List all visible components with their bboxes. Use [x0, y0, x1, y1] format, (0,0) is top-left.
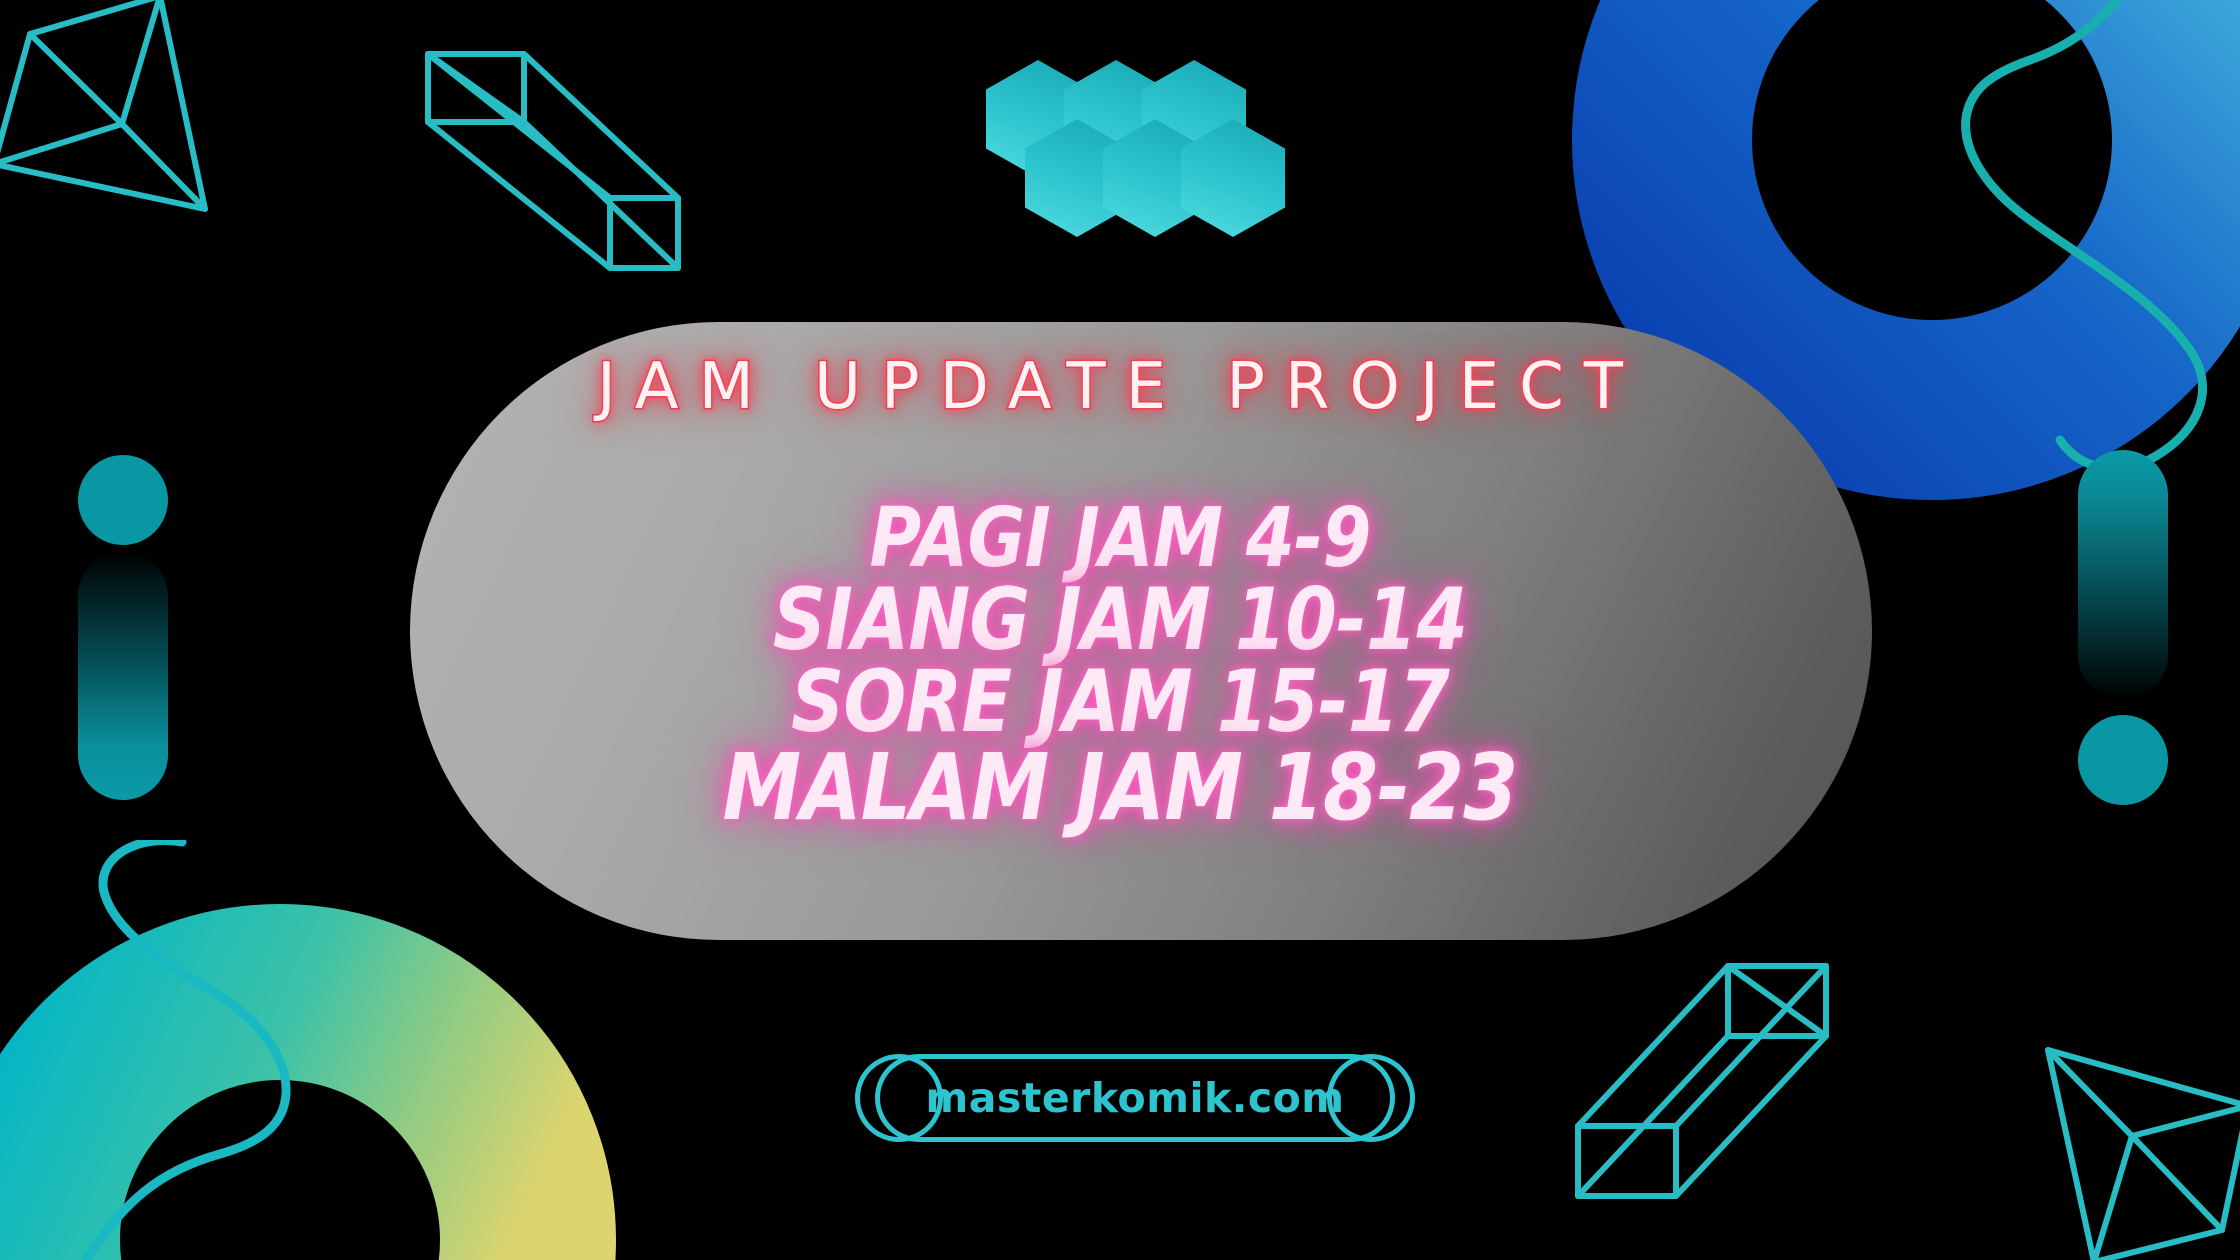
hexagon-6 — [1181, 119, 1285, 237]
tetrahedron-top-left-icon — [0, 0, 230, 224]
hexagon-4 — [1025, 119, 1129, 237]
green-ring-bottom-left — [0, 870, 720, 1260]
beam-bottom-right-icon — [1572, 960, 1842, 1200]
squiggle-bottom-left-icon — [70, 840, 490, 1260]
schedule-list: PAGI JAM 4-9 SIANG JAM 10-14 SORE JAM 15… — [0, 500, 2240, 832]
page-title: JAM UPDATE PROJECT — [0, 350, 2240, 424]
tetrahedron-bottom-right-icon — [2010, 1040, 2240, 1260]
schedule-item-pagi: PAGI JAM 4-9 — [157, 500, 2083, 579]
hexagon-1 — [986, 60, 1090, 178]
hexagon-5 — [1103, 119, 1207, 237]
poster-canvas: JAM UPDATE PROJECT PAGI JAM 4-9 SIANG JA… — [0, 0, 2240, 1260]
squiggle-top-right-icon — [1870, 0, 2240, 500]
schedule-item-sore: SORE JAM 15-17 — [157, 661, 2083, 744]
beam-top-left-icon — [424, 50, 684, 280]
hexagon-2 — [1064, 60, 1168, 178]
schedule-item-siang: SIANG JAM 10-14 — [157, 579, 2083, 662]
schedule-item-malam: MALAM JAM 18-23 — [157, 744, 2083, 832]
website-url-badge[interactable]: masterkomik.com — [855, 1052, 1415, 1144]
website-url-text: masterkomik.com — [855, 1052, 1415, 1144]
hexagon-3 — [1142, 60, 1246, 178]
